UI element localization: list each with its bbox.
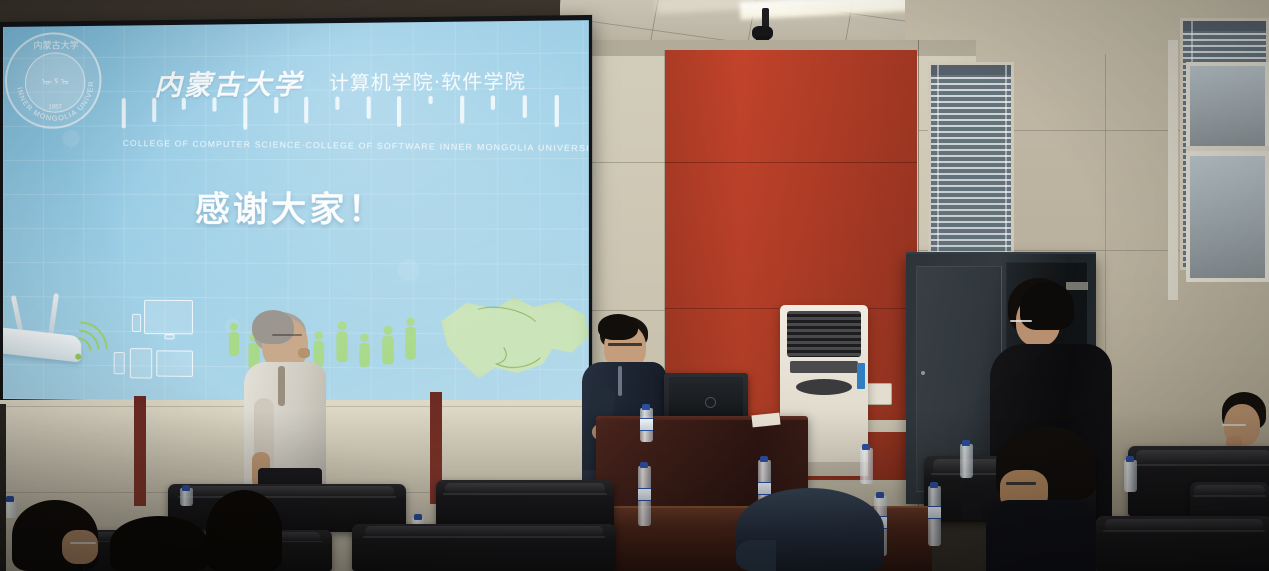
bottle-cap [640, 462, 648, 468]
cap-brim-icon [736, 540, 776, 571]
window-mullion [1168, 40, 1178, 300]
cabinet-label [1066, 282, 1088, 290]
ac-energy-label [857, 363, 865, 389]
window-left [928, 62, 1014, 272]
blind-cord[interactable] [1005, 65, 1007, 269]
bottle-cap [876, 492, 884, 498]
bottle-cap [1126, 456, 1134, 462]
bottle-cap [862, 444, 870, 450]
bottle-label [638, 488, 651, 501]
audience-shoulders [986, 500, 1096, 571]
window-mullion [1186, 146, 1269, 151]
speaker-collar-detail [278, 366, 285, 406]
audience-face-edge [62, 530, 98, 564]
presenter-lanyard [618, 366, 622, 396]
ac-display-panel [790, 361, 858, 373]
audience-hair [206, 490, 282, 571]
water-bottle[interactable] [1124, 460, 1137, 492]
lecture-hall-photo: 内蒙古大学 ᠦ ᠮ ᠤ 1957 INNER MONGOLIA UNIVERSI… [0, 0, 1269, 571]
window-pane-upper [1186, 62, 1269, 152]
attendee-glasses-icon [1010, 320, 1032, 322]
water-bottle[interactable] [960, 444, 973, 478]
speaker-hair-top [252, 310, 294, 344]
ac-vent-grille [787, 311, 861, 357]
bottle-label [928, 506, 941, 519]
presenter-glasses-icon [608, 343, 642, 346]
bottle-cap [182, 485, 190, 491]
audience-hair [110, 516, 208, 571]
bottle-cap [930, 482, 938, 488]
auditorium-seat[interactable] [1096, 516, 1269, 571]
blind-headrail [1183, 21, 1266, 31]
ceiling-camera-icon [752, 26, 773, 40]
remote-device[interactable] [962, 484, 982, 520]
attendee-hair-back [1020, 282, 1074, 330]
window-pane-lower [1186, 152, 1269, 282]
blind-headrail [931, 65, 1011, 75]
bottle-cap [962, 440, 970, 446]
audience-glasses-icon [1006, 482, 1036, 485]
bottle-cap [6, 496, 14, 502]
audience-glasses-icon [70, 542, 96, 544]
bottle-label [640, 418, 653, 431]
presenter-hair-top [598, 314, 638, 340]
auditorium-seat[interactable] [436, 480, 614, 530]
water-bottle[interactable] [860, 448, 873, 484]
monitor-logo-icon [705, 397, 716, 408]
bottle-cap [760, 456, 768, 462]
wall-outlet-icon [866, 383, 892, 405]
monitor-screen [669, 377, 743, 417]
speaker-mouth-area [298, 348, 310, 358]
bottle-cap [414, 514, 422, 520]
speaker-glasses-icon [272, 334, 302, 336]
seated-right-glasses-icon [1222, 424, 1246, 426]
cabinet-handle-icon[interactable] [921, 371, 925, 375]
auditorium-seat[interactable] [352, 524, 616, 571]
screen-support-post [134, 400, 146, 506]
venetian-blinds [931, 65, 1011, 269]
bottle-label [758, 482, 771, 495]
ac-brand-plate [796, 379, 852, 395]
blind-cord[interactable] [937, 65, 939, 269]
bottle-cap [642, 404, 650, 410]
left-edge-shadow [0, 404, 6, 571]
